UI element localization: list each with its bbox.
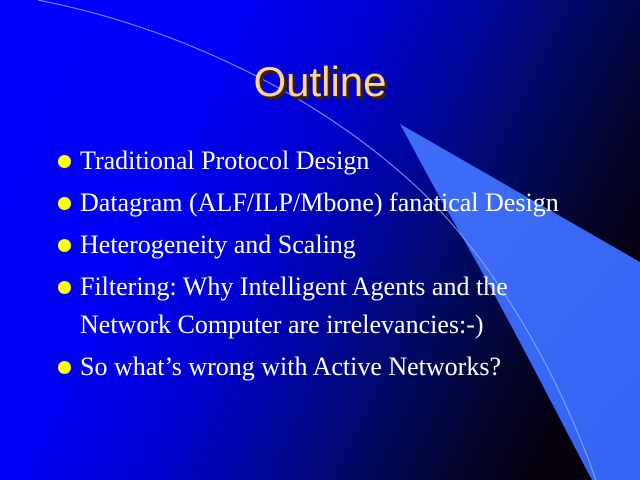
- bullet-dot-icon: [58, 361, 71, 374]
- bullet-item-3: Heterogeneity and Scaling: [52, 226, 597, 264]
- bullet-dot-icon: [58, 281, 71, 294]
- slide-title: Outline: [0, 59, 640, 105]
- bullet-dot-icon: [58, 239, 71, 252]
- outline-bullet-list: Traditional Protocol Design Datagram (AL…: [52, 142, 597, 390]
- bullet-text: So what’s wrong with Active Networks?: [80, 348, 597, 386]
- bullet-dot-icon: [58, 155, 71, 168]
- slide-content: Outline Traditional Protocol Design Data…: [0, 0, 640, 480]
- bullet-text: Heterogeneity and Scaling: [80, 226, 597, 264]
- presentation-slide: Outline Traditional Protocol Design Data…: [0, 0, 640, 480]
- bullet-item-5: So what’s wrong with Active Networks?: [52, 348, 597, 386]
- bullet-dot-icon: [58, 197, 71, 210]
- bullet-text: Filtering: Why Intelligent Agents and th…: [80, 268, 597, 344]
- bullet-item-1: Traditional Protocol Design: [52, 142, 597, 180]
- bullet-text: Datagram (ALF/ILP/Mbone) fanatical Desig…: [80, 184, 597, 222]
- bullet-text: Traditional Protocol Design: [80, 142, 597, 180]
- bullet-item-2: Datagram (ALF/ILP/Mbone) fanatical Desig…: [52, 184, 597, 222]
- bullet-item-4: Filtering: Why Intelligent Agents and th…: [52, 268, 597, 344]
